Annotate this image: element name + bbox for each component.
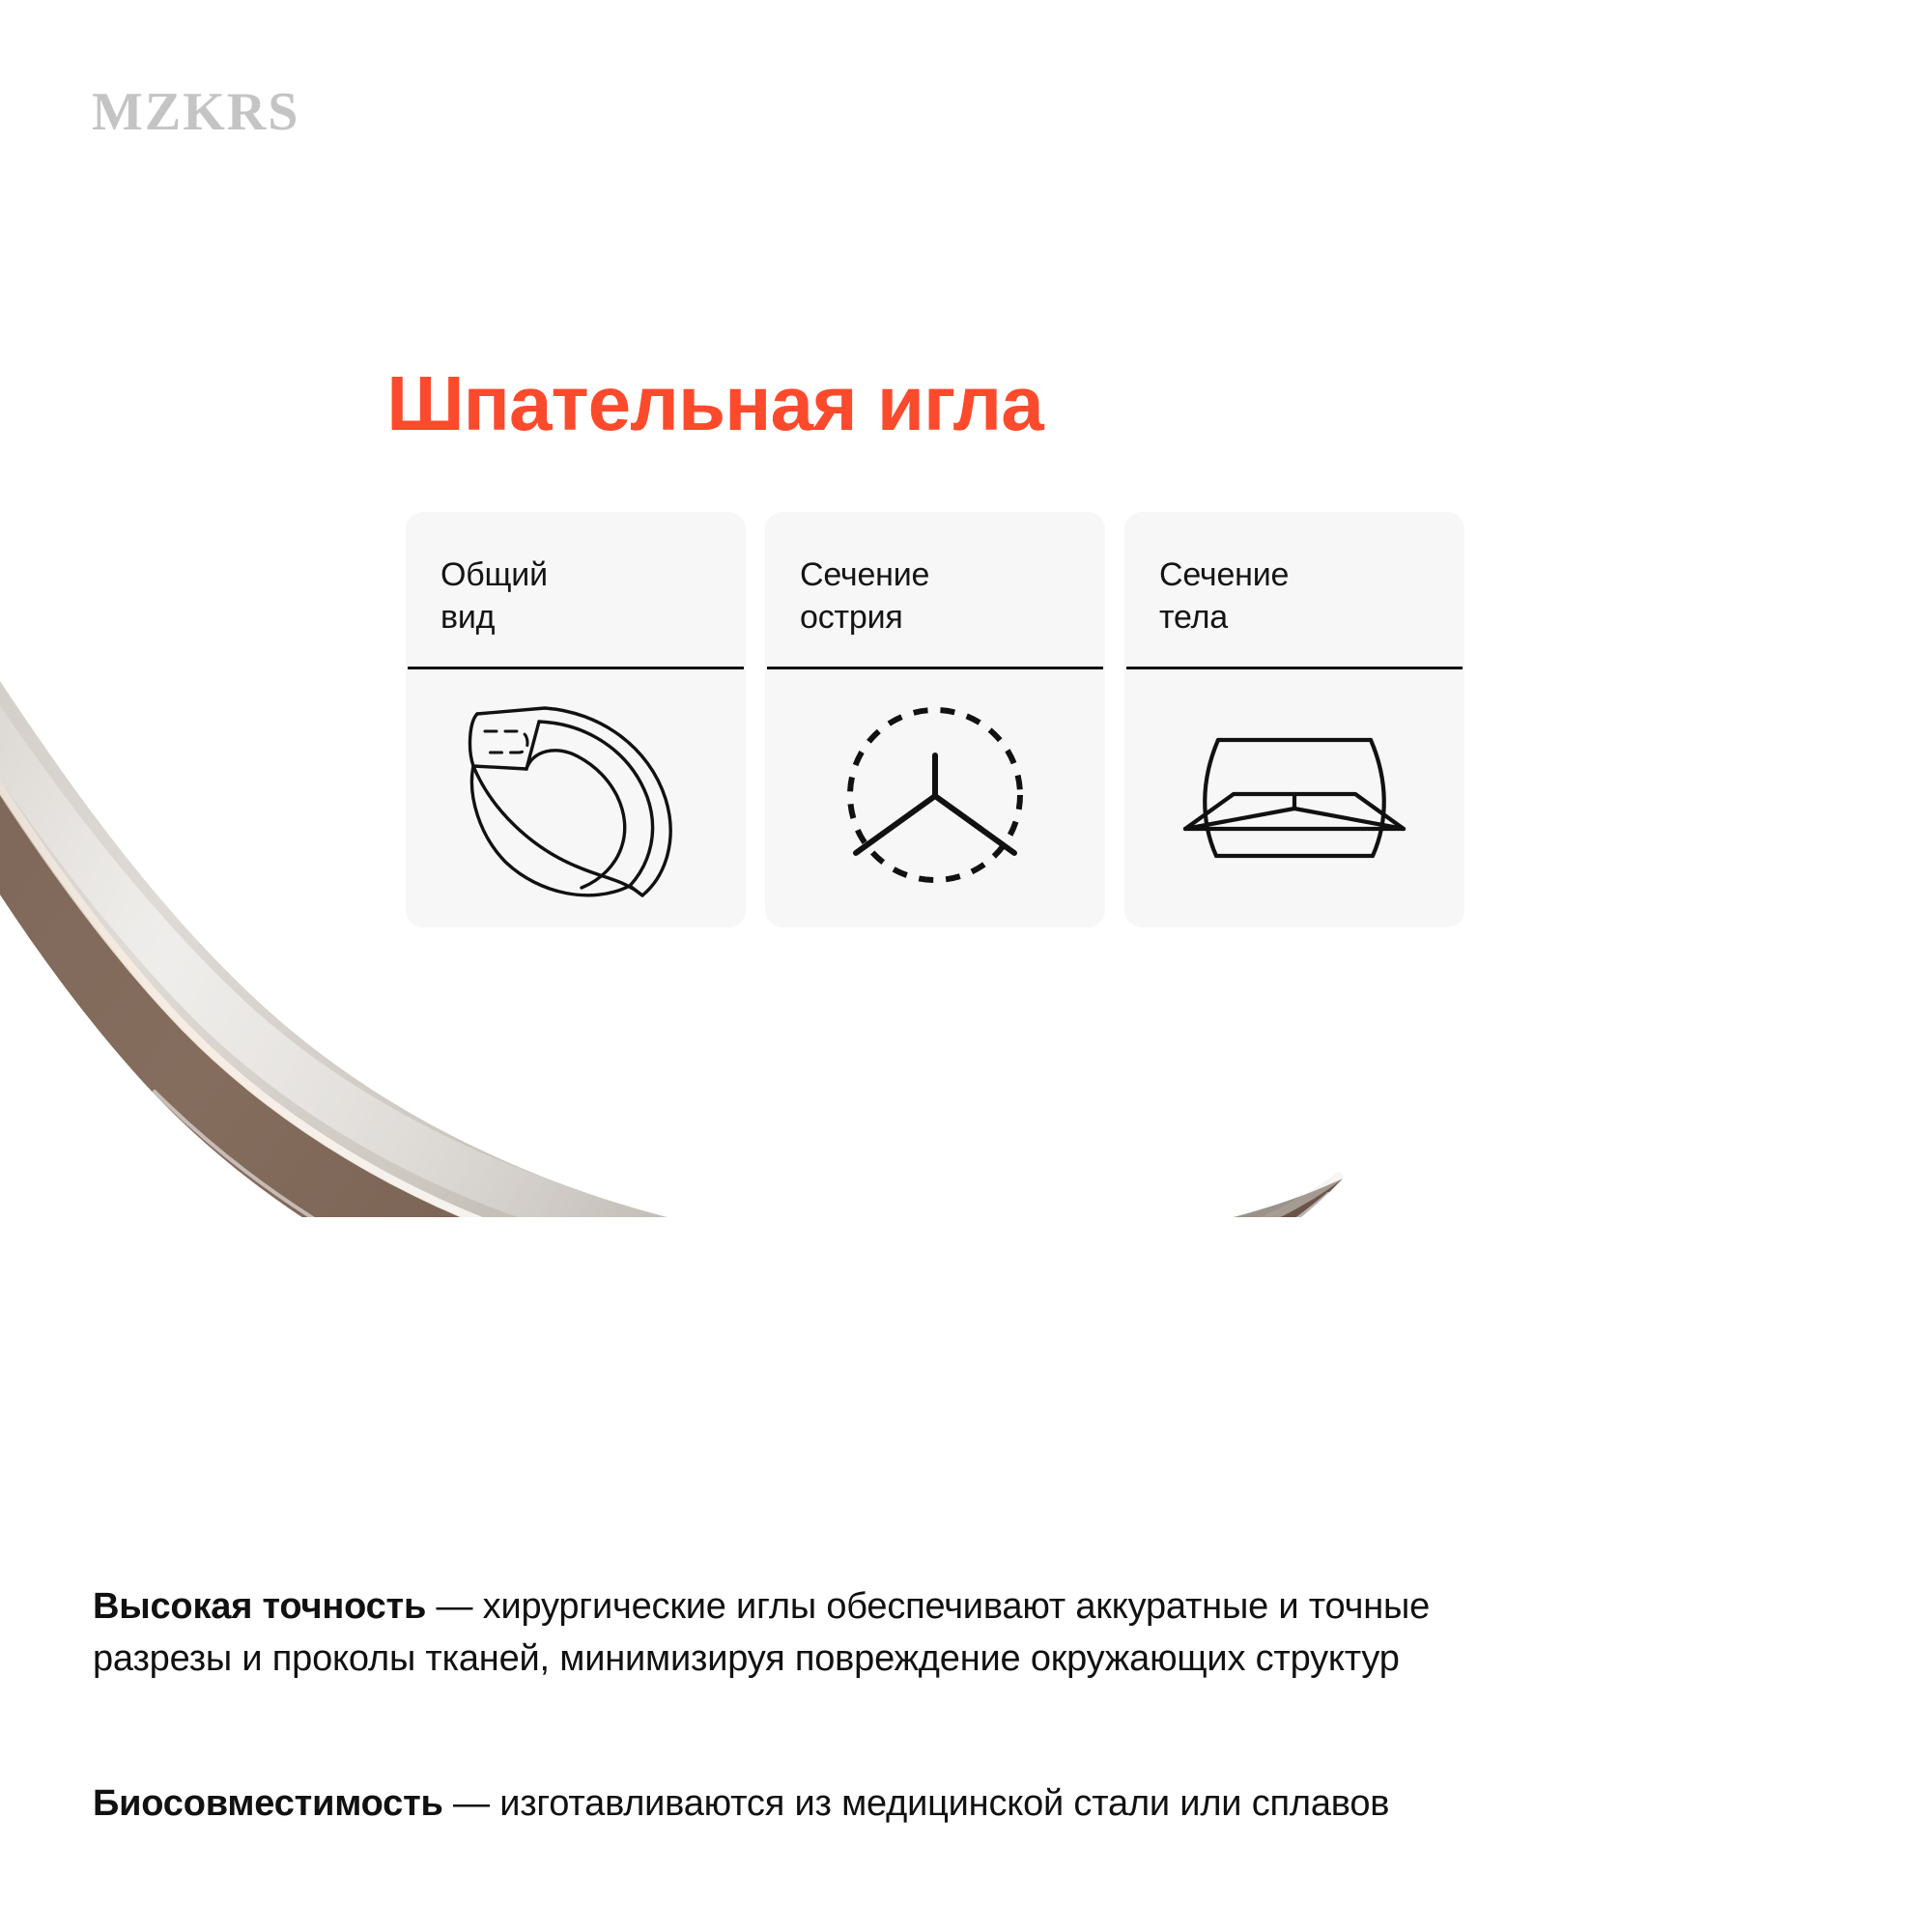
spec-card-label: Сечение тела	[1124, 512, 1464, 667]
spec-card-label: Общий вид	[406, 512, 746, 667]
feature-item: Высокая точность — хирургические иглы об…	[93, 1529, 1658, 1686]
page-title: Шпательная игла	[0, 363, 1430, 444]
body-cross-section-icon	[1124, 669, 1464, 927]
feature-item: Биосовместимость — изготавливаются из ме…	[93, 1726, 1658, 1831]
feature-dash: —	[443, 1783, 500, 1824]
point-cross-section-icon	[765, 669, 1105, 927]
feature-lead: Высокая точность	[93, 1586, 426, 1627]
brand-logo: MZKRS	[92, 85, 299, 139]
feature-lead: Прочность и острота	[93, 1928, 471, 1932]
spec-card-general-view[interactable]: Общий вид	[406, 512, 746, 927]
spec-card-body-section[interactable]: Сечение тела	[1124, 512, 1464, 927]
feature-lead: Биосовместимость	[93, 1783, 443, 1824]
feature-dash: —	[471, 1928, 528, 1932]
curved-needle-outline-icon	[406, 669, 746, 927]
feature-body: изготавливаются из медицинской стали или…	[499, 1783, 1389, 1824]
feature-list: Высокая точность — хирургические иглы об…	[93, 1492, 1658, 1932]
spec-card-label: Сечение острия	[765, 512, 1105, 667]
feature-dash: —	[426, 1586, 483, 1627]
feature-item: Прочность и острота — устойчивы к деформ…	[93, 1871, 1658, 1932]
spec-card-row: Общий вид	[406, 512, 1464, 927]
product-infographic-page: MZKRS	[0, 0, 1932, 1932]
spec-card-point-section[interactable]: Сечение острия	[765, 512, 1105, 927]
